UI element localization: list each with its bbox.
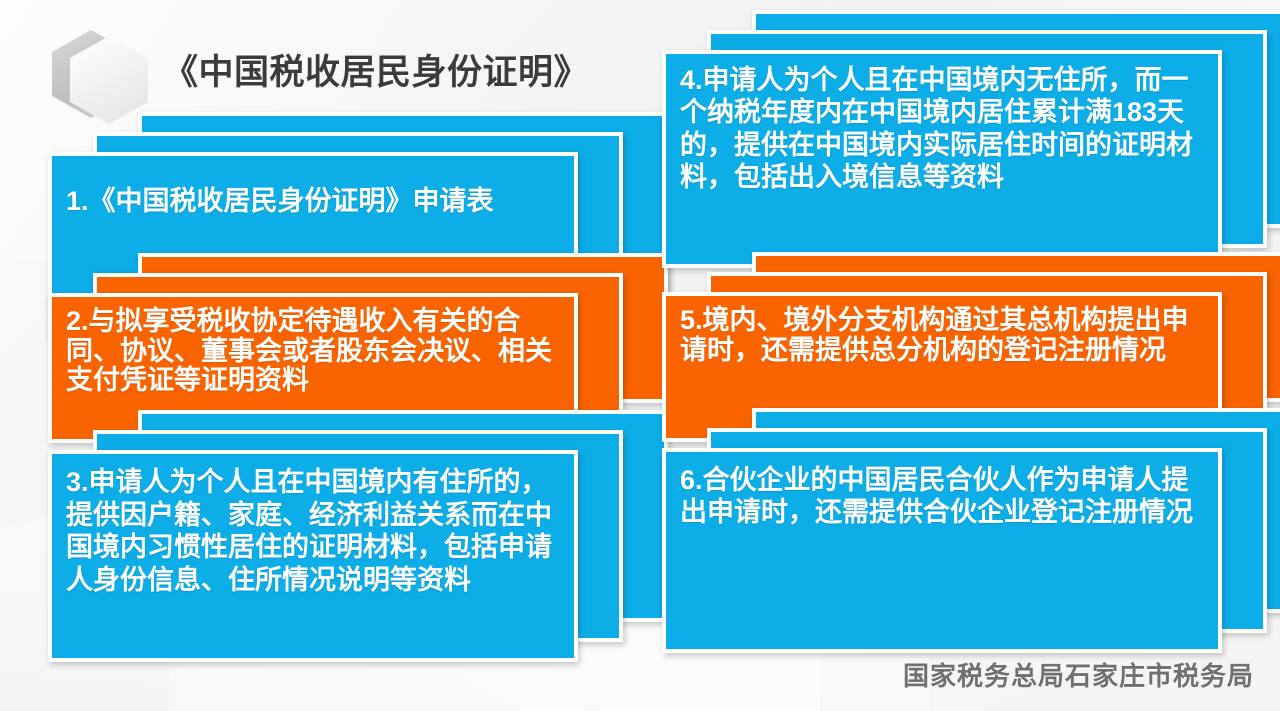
info-card-6[interactable]: 6.合伙企业的中国居民合伙人作为申请人提出申请时，还需提供合伙企业登记注册情况	[662, 448, 1222, 653]
page-title: 《中国税收居民身份证明》	[163, 44, 589, 95]
info-card-5-text: 5.境内、境外分支机构通过其总机构提出申请时，还需提供总分机构的登记注册情况	[680, 306, 1204, 365]
info-card-4[interactable]: 4.申请人为个人且在中国境内无住所，而一个纳税年度内在中国境内居住累计满183天…	[662, 50, 1222, 268]
footer-organization: 国家税务总局石家庄市税务局	[903, 656, 1254, 693]
info-card-1-text: 1.《中国税收居民身份证明》申请表	[66, 186, 560, 217]
info-card-6-text: 6.合伙企业的中国居民合伙人作为申请人提出申请时，还需提供合伙企业登记注册情况	[680, 464, 1204, 529]
info-card-2-text: 2.与拟享受税收协定待遇收入有关的合同、协议、董事会或者股东会决议、相关支付凭证…	[66, 307, 560, 396]
info-card-4-text: 4.申请人为个人且在中国境内无住所，而一个纳税年度内在中国境内居住累计满183天…	[680, 64, 1204, 194]
slide-canvas: 《中国税收居民身份证明》 1.《中国税收居民身份证明》申请表 2.与拟享受税收协…	[0, 0, 1280, 711]
info-card-3-text: 3.申请人为个人且在中国境内有住所的，提供因户籍、家庭、经济利益关系而在中国境内…	[66, 466, 560, 597]
info-card-3[interactable]: 3.申请人为个人且在中国境内有住所的，提供因户籍、家庭、经济利益关系而在中国境内…	[48, 450, 578, 662]
